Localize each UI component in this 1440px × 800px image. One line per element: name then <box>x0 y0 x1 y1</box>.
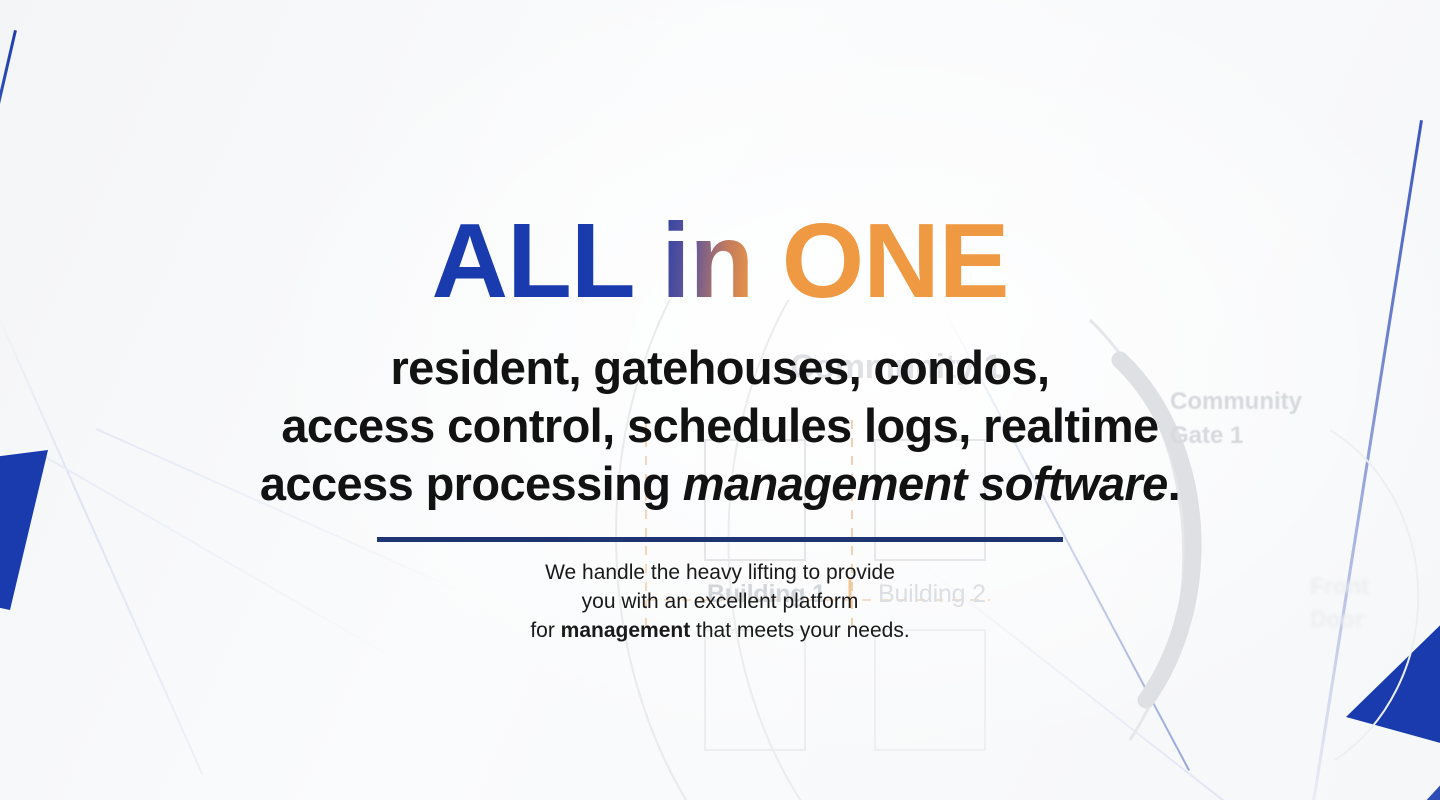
headline-word-all: ALL <box>432 202 633 320</box>
blurb-line-2: you with an excellent platform <box>582 590 859 613</box>
subheadline-line-2: access control, schedules logs, realtime <box>260 397 1180 455</box>
section-divider <box>377 537 1063 542</box>
subheadline-line-1: resident, gatehouses, condos, <box>260 339 1180 397</box>
subheadline-line-3-suffix: . <box>1168 457 1180 510</box>
blurb-line-3-prefix: for <box>530 619 560 642</box>
hero-blurb: We handle the heavy lifting to provide y… <box>530 558 909 645</box>
hero-content: ALL in ONE resident, gatehouses, condos,… <box>0 0 1440 800</box>
hero-headline: ALL in ONE <box>432 206 1009 317</box>
subheadline-emphasis: management software <box>683 457 1168 510</box>
headline-word-in: in <box>661 202 753 320</box>
subheadline-line-3: access processing management software. <box>260 455 1180 513</box>
hero-banner: Community 1 Community Gate 1 Front Door … <box>0 0 1440 800</box>
blurb-bold-management: management <box>561 619 691 642</box>
blurb-line-1: We handle the heavy lifting to provide <box>545 561 895 584</box>
headline-word-one: ONE <box>782 202 1009 320</box>
blurb-line-3-suffix: that meets your needs. <box>690 619 909 642</box>
subheadline-line-3-prefix: access processing <box>260 457 683 510</box>
hero-subheadline: resident, gatehouses, condos, access con… <box>260 339 1180 513</box>
